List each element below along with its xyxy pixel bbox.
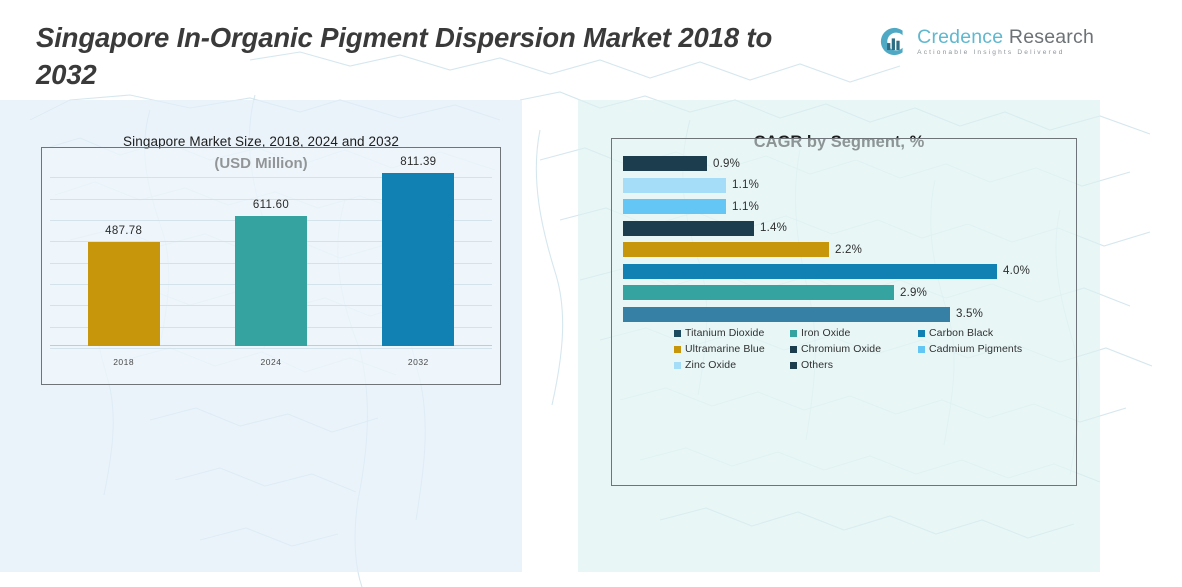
column-bar[interactable]: [88, 242, 160, 346]
legend-swatch: [674, 362, 681, 369]
bar-fill[interactable]: [623, 156, 707, 171]
page-title: Singapore In-Organic Pigment Dispersion …: [36, 20, 836, 93]
column-plot-area: 487.78611.60811.39: [50, 156, 492, 346]
legend-label: Iron Oxide: [801, 327, 850, 339]
bar-value-label: 1.4%: [760, 222, 787, 234]
column-value-label: 487.78: [105, 225, 142, 237]
logo-wordmark: Credence Research Actionable Insights De…: [917, 27, 1094, 56]
column-value-label: 811.39: [400, 156, 436, 168]
legend-item[interactable]: Others: [790, 359, 918, 371]
column-value-label: 611.60: [253, 199, 289, 211]
bar-row: 1.1%: [623, 196, 1065, 218]
legend-item[interactable]: Ultramarine Blue: [674, 343, 790, 355]
legend-item[interactable]: Cadmium Pigments: [918, 343, 1063, 355]
bar-fill[interactable]: [623, 199, 726, 214]
legend-swatch: [674, 346, 681, 353]
bar-row: 1.1%: [623, 175, 1065, 197]
legend-swatch: [790, 362, 797, 369]
category-axis-labels: 201820242032: [50, 350, 492, 374]
bar-value-label: 4.0%: [1003, 265, 1030, 277]
column-category-label: 2032: [345, 357, 492, 367]
bar-value-label: 1.1%: [732, 179, 759, 191]
legend-swatch: [790, 330, 797, 337]
credence-research-logo: Credence Research Actionable Insights De…: [877, 26, 1094, 57]
bar-fill[interactable]: [623, 264, 997, 279]
legend-item[interactable]: Zinc Oxide: [674, 359, 790, 371]
market-size-column-chart: 487.78611.60811.39 201820242032: [41, 147, 501, 385]
legend-label: Cadmium Pigments: [929, 343, 1022, 355]
column-group: 811.39: [345, 156, 492, 346]
infographic-page: Singapore In-Organic Pigment Dispersion …: [0, 0, 1182, 587]
legend-item[interactable]: Chromium Oxide: [790, 343, 918, 355]
legend-label: Others: [801, 359, 833, 371]
legend-label: Titanium Dioxide: [685, 327, 764, 339]
bar-row: 2.9%: [623, 282, 1065, 304]
bar-fill[interactable]: [623, 178, 726, 193]
gridline: [50, 348, 492, 349]
bar-row: 1.4%: [623, 218, 1065, 240]
legend-label: Carbon Black: [929, 327, 993, 339]
cagr-bar-plot-area: 0.9%1.1%1.1%1.4%2.2%4.0%2.9%3.5%: [623, 153, 1065, 325]
cagr-by-segment-bar-chart: 0.9%1.1%1.1%1.4%2.2%4.0%2.9%3.5% Titaniu…: [611, 138, 1077, 486]
bar-fill[interactable]: [623, 221, 754, 236]
logo-name-second: Research: [1003, 26, 1094, 48]
legend-label: Chromium Oxide: [801, 343, 881, 355]
column-category-label: 2018: [50, 357, 197, 367]
logo-tagline: Actionable Insights Delivered: [917, 49, 1094, 56]
legend-swatch: [674, 330, 681, 337]
bar-fill[interactable]: [623, 242, 829, 257]
cagr-legend: Titanium DioxideIron OxideCarbon BlackUl…: [674, 327, 1064, 371]
bar-fill[interactable]: [623, 285, 894, 300]
bar-chart-circle-icon: [877, 26, 908, 57]
column-bar[interactable]: [235, 216, 307, 346]
column-bar[interactable]: [382, 173, 454, 346]
legend-label: Ultramarine Blue: [685, 343, 765, 355]
legend-item[interactable]: Carbon Black: [918, 327, 1063, 339]
bar-value-label: 1.1%: [732, 201, 759, 213]
bar-fill[interactable]: [623, 307, 950, 322]
bar-row: 2.2%: [623, 239, 1065, 261]
bar-row: 3.5%: [623, 304, 1065, 326]
bar-value-label: 3.5%: [956, 308, 983, 320]
column-group: 611.60: [197, 156, 344, 346]
logo-name-first: Credence: [917, 26, 1003, 48]
legend-item[interactable]: Iron Oxide: [790, 327, 918, 339]
bar-value-label: 2.9%: [900, 287, 927, 299]
legend-swatch: [790, 346, 797, 353]
column-category-label: 2024: [197, 357, 344, 367]
bar-row: 4.0%: [623, 261, 1065, 283]
bar-value-label: 0.9%: [713, 158, 740, 170]
column-group: 487.78: [50, 156, 197, 346]
header: Singapore In-Organic Pigment Dispersion …: [0, 0, 1182, 100]
bar-value-label: 2.2%: [835, 244, 862, 256]
bar-row: 0.9%: [623, 153, 1065, 175]
legend-item[interactable]: Titanium Dioxide: [674, 327, 790, 339]
legend-swatch: [918, 330, 925, 337]
logo-name: Credence Research: [917, 27, 1094, 47]
legend-label: Zinc Oxide: [685, 359, 736, 371]
legend-swatch: [918, 346, 925, 353]
